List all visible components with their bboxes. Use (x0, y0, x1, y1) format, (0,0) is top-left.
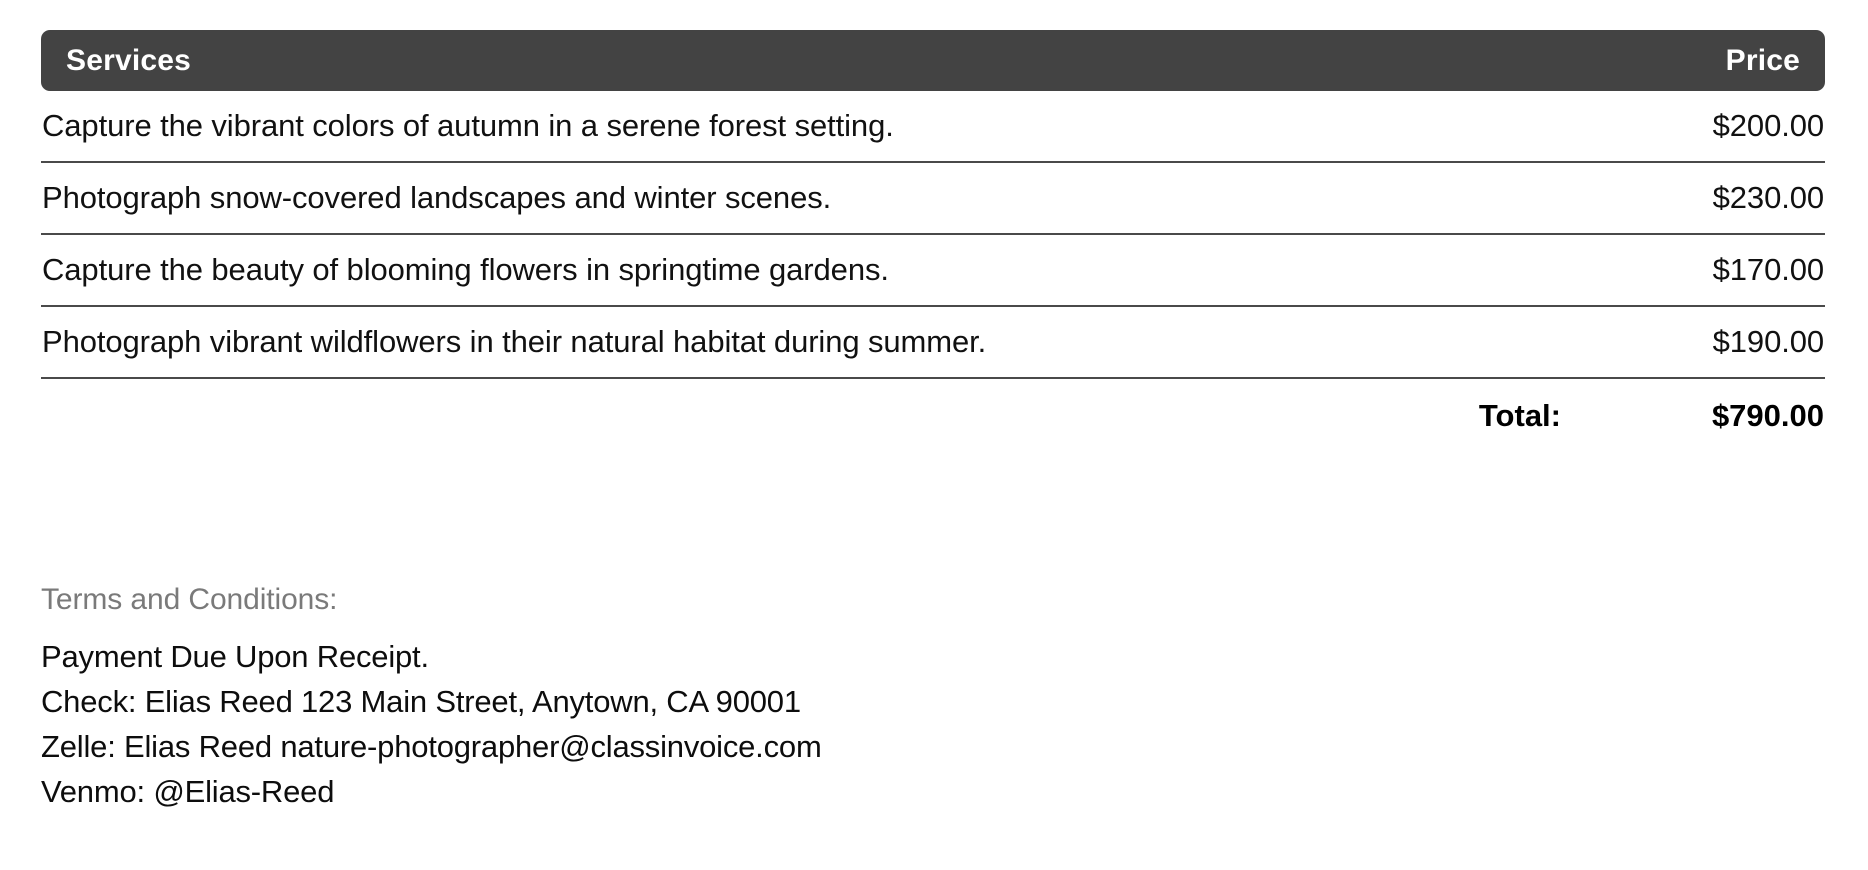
column-header-services: Services (66, 46, 191, 76)
service-price: $170.00 (1713, 252, 1824, 288)
table-row: Photograph snow-covered landscapes and w… (41, 163, 1825, 235)
terms-line-check: Check: Elias Reed 123 Main Street, Anyto… (41, 679, 1825, 724)
table-row: Capture the beauty of blooming flowers i… (41, 235, 1825, 307)
total-amount: $790.00 (1664, 398, 1824, 434)
table-total-row: Total: $790.00 (41, 379, 1825, 452)
service-description: Photograph snow-covered landscapes and w… (42, 180, 831, 216)
service-description: Photograph vibrant wildflowers in their … (42, 324, 986, 360)
service-price: $190.00 (1713, 324, 1824, 360)
table-row: Photograph vibrant wildflowers in their … (41, 307, 1825, 379)
services-table: Services Price Capture the vibrant color… (41, 30, 1825, 452)
service-description: Capture the beauty of blooming flowers i… (42, 252, 889, 288)
table-row: Capture the vibrant colors of autumn in … (41, 91, 1825, 163)
service-price: $200.00 (1713, 108, 1824, 144)
terms-line-zelle: Zelle: Elias Reed nature-photographer@cl… (41, 724, 1825, 769)
terms-and-conditions-block: Terms and Conditions: Payment Due Upon R… (41, 585, 1825, 814)
service-price: $230.00 (1713, 180, 1824, 216)
terms-line-venmo: Venmo: @Elias-Reed (41, 769, 1825, 814)
terms-heading: Terms and Conditions: (41, 585, 1825, 615)
column-header-price: Price (1726, 46, 1800, 76)
total-label: Total: (1479, 398, 1561, 434)
table-header-row: Services Price (41, 30, 1825, 91)
terms-line-payment: Payment Due Upon Receipt. (41, 634, 1825, 679)
invoice-sheet: Services Price Capture the vibrant color… (0, 0, 1868, 870)
service-description: Capture the vibrant colors of autumn in … (42, 108, 894, 144)
